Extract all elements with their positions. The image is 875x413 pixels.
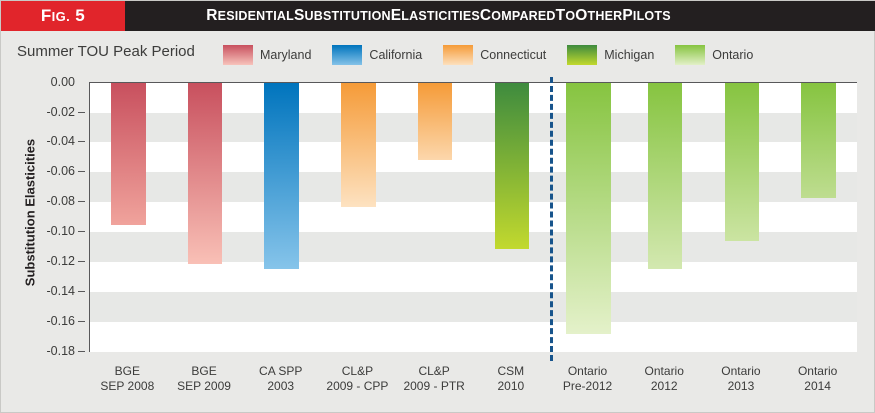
y-axis-tick-label: -0.16	[47, 314, 76, 328]
x-label-line-1: Ontario	[626, 364, 703, 379]
bar-ontario-2014[interactable]	[801, 83, 836, 198]
x-label-line-1: Ontario	[549, 364, 626, 379]
x-axis-tick-label: CL&P2009 - PTR	[396, 364, 473, 394]
y-axis-tick-label: -0.10	[47, 224, 76, 238]
legend-swatch-icon	[567, 45, 597, 65]
legend-item-label: Michigan	[604, 48, 654, 62]
x-label-line-1: Ontario	[703, 364, 780, 379]
legend-item-maryland[interactable]: Maryland	[223, 45, 311, 65]
chart-legend: MarylandCaliforniaConnecticutMichiganOnt…	[223, 45, 774, 65]
x-axis-tick-label: BGESEP 2009	[166, 364, 243, 394]
x-label-line-2: 2009 - PTR	[396, 379, 473, 394]
figure-title: RESIDENTIAL SUBSTITUTION ELASTICITIES CO…	[125, 1, 875, 31]
y-axis-tick-mark	[78, 351, 85, 352]
bar-ca-spp-2003[interactable]	[264, 83, 299, 270]
legend-item-connecticut[interactable]: Connecticut	[443, 45, 546, 65]
legend-item-label: Connecticut	[480, 48, 546, 62]
y-axis-tick-label: -0.12	[47, 254, 76, 268]
bar-ontario-2012[interactable]	[648, 83, 683, 270]
bar-ontario-2013[interactable]	[725, 83, 760, 241]
figure-number-badge: FIG. 5	[1, 1, 125, 31]
figure-panel: FIG. 5 RESIDENTIAL SUBSTITUTION ELASTICI…	[0, 0, 875, 413]
legend-swatch-icon	[675, 45, 705, 65]
x-label-line-1: CL&P	[319, 364, 396, 379]
x-axis-tick-label: CA SPP2003	[242, 364, 319, 394]
x-axis-tick-label: BGESEP 2008	[89, 364, 166, 394]
x-label-line-1: Ontario	[779, 364, 856, 379]
legend-item-label: California	[369, 48, 422, 62]
x-axis-labels: BGESEP 2008BGESEP 2009CA SPP2003CL&P2009…	[89, 358, 856, 406]
x-label-line-2: SEP 2009	[166, 379, 243, 394]
x-label-line-2: 2009 - CPP	[319, 379, 396, 394]
x-axis-tick-label: OntarioPre-2012	[549, 364, 626, 394]
y-axis-tick-label: -0.08	[47, 194, 76, 208]
x-label-line-2: 2013	[703, 379, 780, 394]
bar-cl-p-2009-cpp[interactable]	[341, 83, 376, 207]
y-axis-tick-mark	[78, 261, 85, 262]
legend-item-label: Maryland	[260, 48, 311, 62]
y-axis-tick-label: -0.18	[47, 344, 76, 358]
bar-bge-sep-2008[interactable]	[111, 83, 146, 225]
bar-bge-sep-2009[interactable]	[188, 83, 223, 264]
x-label-line-1: CL&P	[396, 364, 473, 379]
y-axis-tick-mark	[78, 141, 85, 142]
figure-number-label: FIG. 5	[41, 6, 85, 26]
legend-row: Summer TOU Peak Period MarylandCaliforni…	[1, 31, 875, 75]
legend-item-california[interactable]: California	[332, 45, 422, 65]
plot-region: Substitution Elasticities 0.00-0.02-0.04…	[1, 75, 875, 365]
y-axis-tick-label: -0.02	[47, 105, 76, 119]
pilot-group-divider	[550, 77, 553, 361]
bar-cl-p-2009-ptr[interactable]	[418, 83, 453, 161]
y-axis-tick-mark	[78, 171, 85, 172]
x-label-line-2: 2003	[242, 379, 319, 394]
figure-title-bar: FIG. 5 RESIDENTIAL SUBSTITUTION ELASTICI…	[1, 1, 875, 31]
x-label-line-2: 2014	[779, 379, 856, 394]
legend-item-label: Ontario	[712, 48, 753, 62]
x-label-line-1: BGE	[89, 364, 166, 379]
x-label-line-2: 2012	[626, 379, 703, 394]
x-label-line-1: CA SPP	[242, 364, 319, 379]
x-axis-tick-label: CSM2010	[473, 364, 550, 394]
legend-swatch-icon	[443, 45, 473, 65]
x-label-line-2: 2010	[473, 379, 550, 394]
y-axis-tick-label: -0.06	[47, 164, 76, 178]
x-axis-tick-label: CL&P2009 - CPP	[319, 364, 396, 394]
y-axis-labels: 0.00-0.02-0.04-0.06-0.08-0.10-0.12-0.14-…	[1, 75, 89, 358]
chart-subtitle: Summer TOU Peak Period	[17, 43, 195, 60]
x-axis-tick-label: Ontario2012	[626, 364, 703, 394]
plot-area	[89, 82, 857, 352]
x-label-line-2: SEP 2008	[89, 379, 166, 394]
y-axis-tick-mark	[78, 321, 85, 322]
x-axis-tick-label: Ontario2014	[779, 364, 856, 394]
x-label-line-1: CSM	[473, 364, 550, 379]
y-axis-tick-label: -0.04	[47, 134, 76, 148]
y-axis-tick-mark	[78, 231, 85, 232]
y-axis-tick-mark	[78, 201, 85, 202]
legend-item-ontario[interactable]: Ontario	[675, 45, 753, 65]
x-label-line-1: BGE	[166, 364, 243, 379]
y-axis-tick-mark	[78, 291, 85, 292]
bar-csm-2010[interactable]	[495, 83, 530, 249]
x-label-line-2: Pre-2012	[549, 379, 626, 394]
legend-swatch-icon	[223, 45, 253, 65]
bar-ontario-pre-2012[interactable]	[566, 83, 610, 334]
x-axis-tick-label: Ontario2013	[703, 364, 780, 394]
legend-item-michigan[interactable]: Michigan	[567, 45, 654, 65]
y-axis-tick-label: -0.14	[47, 284, 76, 298]
plot-band	[90, 292, 857, 322]
y-axis-tick-label: 0.00	[51, 75, 75, 89]
y-axis-tick-mark	[78, 112, 85, 113]
legend-swatch-icon	[332, 45, 362, 65]
